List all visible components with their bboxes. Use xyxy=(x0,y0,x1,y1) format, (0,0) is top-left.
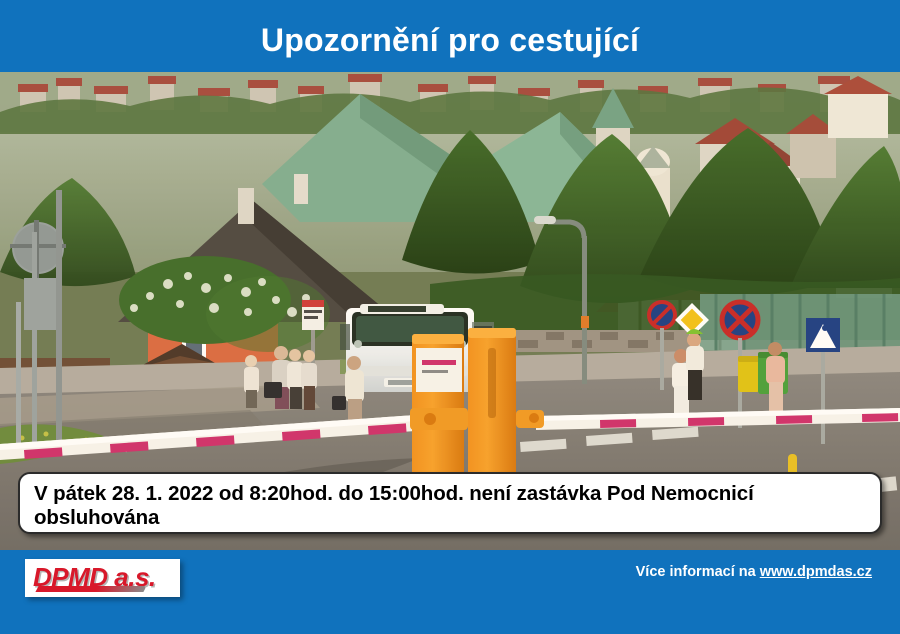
page-title: Upozornění pro cestující xyxy=(0,22,900,58)
more-info-prefix: Více informací na xyxy=(636,564,760,580)
poster-footer: DPMD a.s. Více informací na www.dpmdas.c… xyxy=(0,550,900,634)
logo-swoosh-icon xyxy=(35,586,146,592)
notice-text: V pátek 28. 1. 2022 od 8:20hod. do 15:00… xyxy=(34,482,866,530)
website-link[interactable]: www.dpmdas.cz xyxy=(760,564,872,580)
dpmd-logo: DPMD a.s. xyxy=(25,559,180,597)
more-info-line: Více informací na www.dpmdas.cz xyxy=(636,564,872,580)
notice-box: V pátek 28. 1. 2022 od 8:20hod. do 15:00… xyxy=(18,472,882,534)
poster-header: Upozornění pro cestující xyxy=(0,0,900,72)
passenger-notice-poster: Upozornění pro cestující xyxy=(0,0,900,634)
